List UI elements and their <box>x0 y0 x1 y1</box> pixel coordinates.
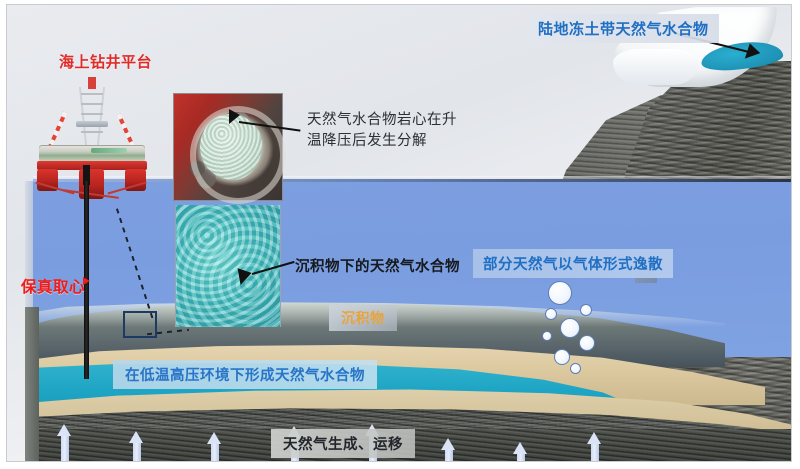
callout-arrowhead-sediment <box>238 266 254 285</box>
gas-bubble <box>545 308 557 320</box>
gas-bubble <box>560 318 580 338</box>
gas-bubble <box>579 335 595 351</box>
permafrost-snow-lip <box>613 49 699 85</box>
sediment-hydrate-photo <box>175 205 281 327</box>
figure-canvas: 海上钻井平台 天然气水合物岩心在升温降压后发生分解 陆地冻土带天然气水合物 部分… <box>0 0 800 469</box>
label-core-decomposition: 天然气水合物岩心在升温降压后发生分解 <box>307 110 457 152</box>
seabed-left-face <box>25 307 39 461</box>
label-gas-generation: 天然气生成、运移 <box>271 429 415 458</box>
label-pressure-coring: 保真取心 <box>21 275 85 297</box>
figure-frame: 海上钻井平台 天然气水合物岩心在升温降压后发生分解 陆地冻土带天然气水合物 部分… <box>6 4 792 462</box>
gas-migration-arrow <box>441 449 456 462</box>
gas-bubble <box>548 281 572 305</box>
callout-arrowhead-core <box>229 109 240 124</box>
offshore-drilling-rig <box>33 83 151 187</box>
gas-migration-arrow <box>207 443 222 462</box>
gas-migration-arrow <box>513 453 528 462</box>
hydrate-core-photo <box>173 93 283 201</box>
gas-migration-arrow <box>129 442 144 462</box>
label-sediment-hydrate: 沉积物下的天然气水合物 <box>295 255 460 276</box>
label-hydrate-formation: 在低温高压环境下形成天然气水合物 <box>113 360 377 389</box>
gas-bubble <box>554 349 570 365</box>
gas-migration-arrow <box>587 443 602 462</box>
gas-migration-arrow <box>57 435 72 462</box>
gas-bubble <box>542 331 552 341</box>
label-gas-escape: 部分天然气以气体形式逸散 <box>473 249 673 278</box>
rig-bracing <box>35 183 149 199</box>
label-sediment: 沉积物 <box>329 305 397 331</box>
label-offshore-platform: 海上钻井平台 <box>59 51 152 72</box>
gas-bubble <box>570 363 581 374</box>
gas-bubble <box>580 304 592 316</box>
rig-helideck <box>91 148 127 153</box>
label-permafrost-hydrate: 陆地冻土带天然气水合物 <box>528 14 719 43</box>
derrick-tower <box>79 83 105 149</box>
